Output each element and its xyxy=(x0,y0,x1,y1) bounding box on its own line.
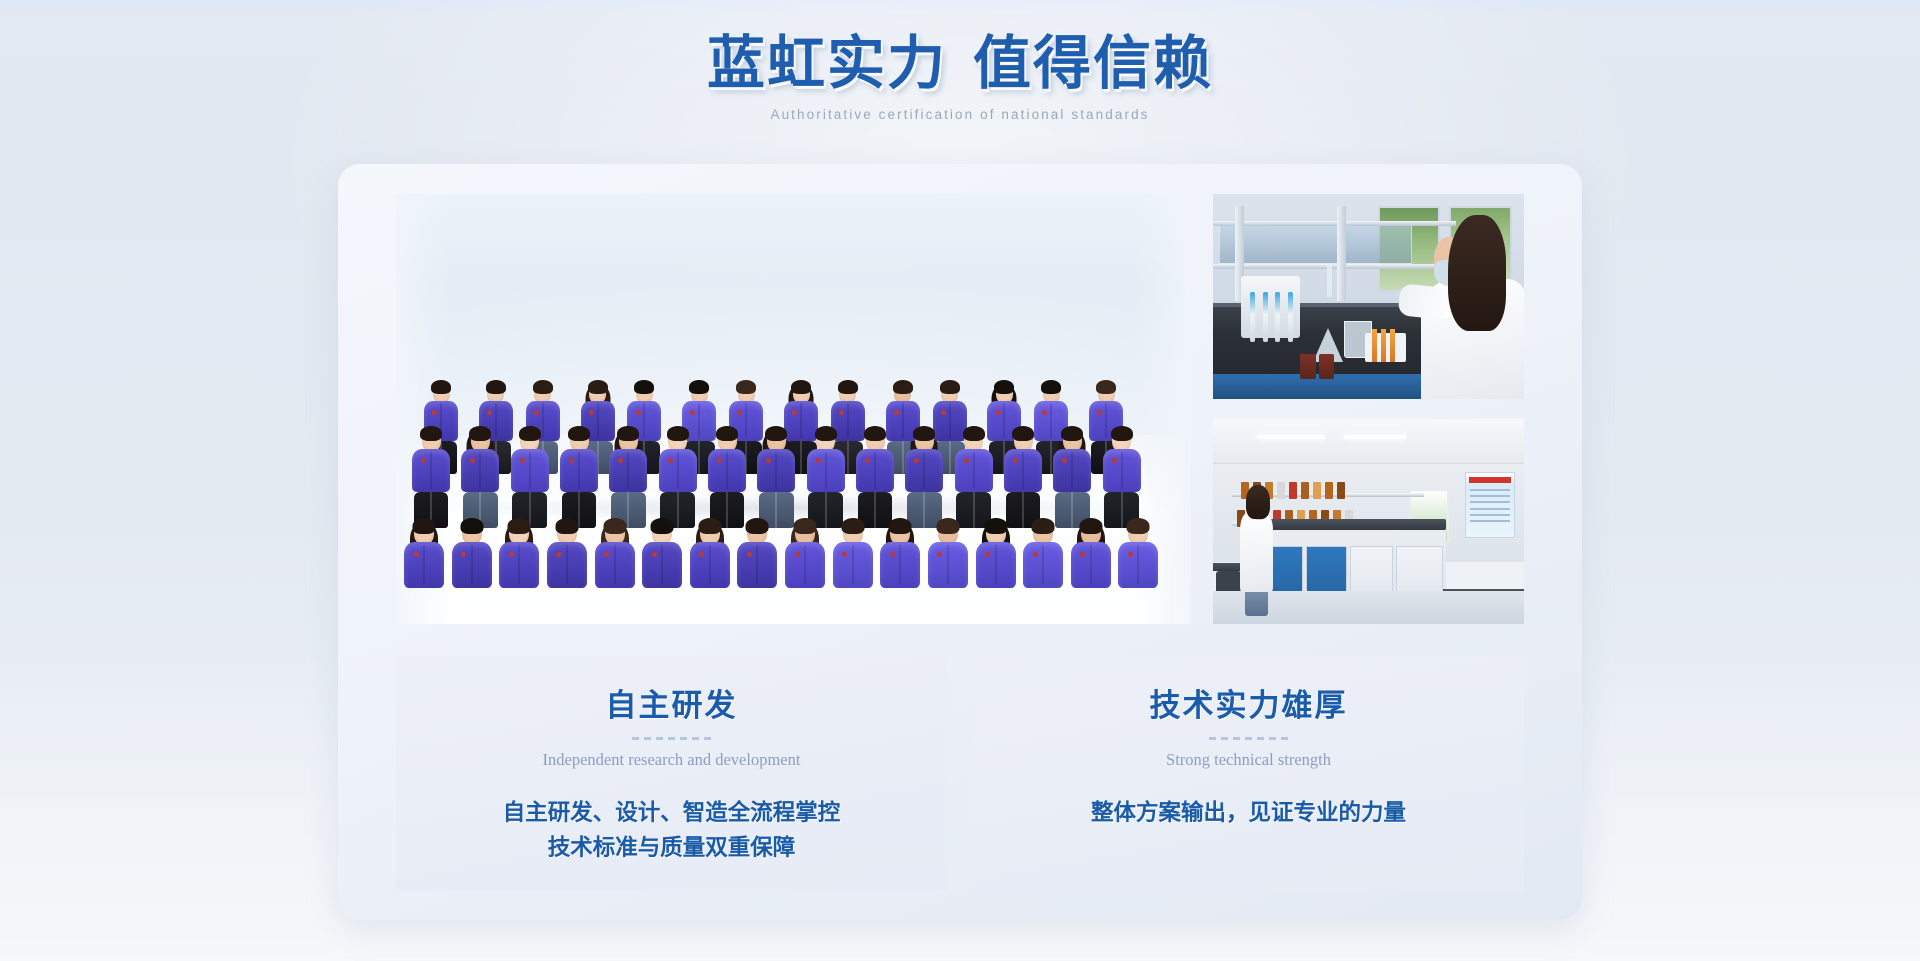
uniform-logo-icon xyxy=(795,552,800,557)
person-hair xyxy=(651,518,674,534)
poster-line-5 xyxy=(1470,514,1510,516)
person-uniform xyxy=(1053,449,1091,492)
card-english-subtitle: Strong technical strength xyxy=(991,750,1506,770)
uniform-logo-icon xyxy=(747,552,752,557)
person-uniform xyxy=(976,542,1016,588)
technician-hair xyxy=(1246,485,1270,519)
uniform-logo-icon xyxy=(839,410,844,415)
reagent-bottle-icon xyxy=(1325,482,1333,499)
person-uniform xyxy=(595,542,635,588)
uniform-logo-icon xyxy=(1097,410,1102,415)
person-figure xyxy=(833,520,873,588)
lab-bench-scene xyxy=(1213,194,1524,399)
lab-photo-bottom xyxy=(1213,419,1524,624)
person-uniform xyxy=(642,542,682,588)
person-hair xyxy=(1061,426,1083,441)
page-subtitle: Authoritative certification of national … xyxy=(0,107,1920,122)
poster-line-1 xyxy=(1470,489,1510,491)
person-uniform xyxy=(955,449,993,492)
person-hair xyxy=(1041,380,1061,394)
reagent-bottle-icon-1 xyxy=(1300,354,1316,379)
person-hair xyxy=(1012,426,1034,441)
uniform-logo-icon xyxy=(1033,552,1038,557)
person-hair xyxy=(1079,518,1102,534)
card-body-line-1: 整体方案输出，见证专业的力量 xyxy=(991,796,1506,831)
pipette-icon-3 xyxy=(1275,292,1280,341)
reagent-bottle-icon xyxy=(1337,482,1345,499)
uniform-logo-icon xyxy=(816,458,821,463)
person-figure xyxy=(690,520,730,588)
person-hair xyxy=(736,380,756,394)
uniform-logo-icon xyxy=(636,410,641,415)
person-hair xyxy=(913,426,935,441)
person-uniform xyxy=(833,542,873,588)
uniform-logo-icon xyxy=(964,458,969,463)
person-hair xyxy=(413,518,436,534)
uniform-logo-icon xyxy=(520,458,525,463)
person-hair xyxy=(893,380,913,394)
card-title: 自主研发 xyxy=(414,680,929,725)
island-bench-top xyxy=(1253,519,1446,529)
divider-dot xyxy=(1257,737,1264,740)
person-figure xyxy=(609,428,647,528)
person-figure xyxy=(595,520,635,588)
person-hair xyxy=(994,380,1014,394)
person-hair xyxy=(667,426,689,441)
person-hair xyxy=(568,426,590,441)
person-hair xyxy=(460,518,483,534)
person-figure xyxy=(499,520,539,588)
person-figure xyxy=(452,520,492,588)
person-hair xyxy=(555,518,578,534)
poster-line-6 xyxy=(1470,520,1510,522)
person-hair xyxy=(420,426,442,441)
person-uniform xyxy=(511,449,549,492)
lab-technician xyxy=(1393,215,1524,400)
uniform-logo-icon xyxy=(690,410,695,415)
person-hair xyxy=(588,380,608,394)
person-hair xyxy=(603,518,626,534)
safety-poster xyxy=(1465,472,1515,538)
person-figure xyxy=(461,428,499,528)
person-uniform xyxy=(856,449,894,492)
divider-dot xyxy=(656,737,663,740)
person-figure xyxy=(928,520,968,588)
uniform-logo-icon xyxy=(914,458,919,463)
person-hair xyxy=(469,426,491,441)
person-figure xyxy=(1053,428,1091,528)
uniform-logo-icon xyxy=(937,552,942,557)
uniform-logo-icon xyxy=(699,552,704,557)
person-uniform xyxy=(1103,449,1141,492)
person-hair xyxy=(1032,518,1055,534)
uniform-logo-icon xyxy=(487,410,492,415)
person-figure xyxy=(1071,520,1111,588)
lab-room-technician xyxy=(1235,485,1279,616)
uniform-logo-icon xyxy=(1062,458,1067,463)
group-photo xyxy=(396,194,1191,624)
person-figure xyxy=(976,520,1016,588)
person-hair xyxy=(698,518,721,534)
person-figure xyxy=(737,520,777,588)
pipette-icon-1 xyxy=(1250,292,1255,341)
uniform-logo-icon xyxy=(1112,458,1117,463)
person-hair xyxy=(841,518,864,534)
content-panel: 自主研发 Independent research and developmen… xyxy=(338,164,1582,920)
person-hair xyxy=(1096,380,1116,394)
divider-dot xyxy=(1233,737,1240,740)
divider-dot xyxy=(692,737,699,740)
uniform-logo-icon xyxy=(421,458,426,463)
ceiling-light-icon-1 xyxy=(1257,435,1325,439)
person-hair xyxy=(889,518,912,534)
uniform-logo-icon xyxy=(792,410,797,415)
poster-title-bar xyxy=(1469,477,1511,483)
person-hair xyxy=(794,518,817,534)
uniform-logo-icon xyxy=(985,552,990,557)
person-figure xyxy=(905,428,943,528)
person-uniform xyxy=(784,401,818,441)
card-body-line-2: 技术标准与质量双重保障 xyxy=(414,831,929,866)
person-uniform xyxy=(1118,542,1158,588)
person-hair xyxy=(533,380,553,394)
uniform-logo-icon xyxy=(652,552,657,557)
person-figure xyxy=(1118,520,1158,588)
uniform-logo-icon xyxy=(996,410,1001,415)
reagent-bottle-icon-2 xyxy=(1319,354,1335,379)
person-uniform xyxy=(659,449,697,492)
person-figure xyxy=(642,520,682,588)
poster-line-3 xyxy=(1470,501,1510,503)
person-figure xyxy=(1023,520,1063,588)
page-title-left: 蓝虹实力 xyxy=(707,31,947,96)
pipette-icon-2 xyxy=(1263,292,1268,341)
feature-cards: 自主研发 Independent research and developmen… xyxy=(396,656,1524,891)
pipette-icon-4 xyxy=(1288,292,1293,341)
person-hair xyxy=(940,380,960,394)
reagent-bottle-icon xyxy=(1289,482,1297,499)
uniform-logo-icon xyxy=(717,458,722,463)
uniform-logo-icon xyxy=(1128,552,1133,557)
lab-room-scene xyxy=(1213,419,1524,624)
divider-dot xyxy=(1281,737,1288,740)
person-hair xyxy=(689,380,709,394)
uniform-logo-icon xyxy=(1042,410,1047,415)
person-hair xyxy=(815,426,837,441)
divider-dot xyxy=(668,737,675,740)
uniform-logo-icon xyxy=(604,552,609,557)
person-hair xyxy=(431,380,451,394)
lab-post-mid xyxy=(1337,206,1346,300)
person-hair xyxy=(716,426,738,441)
poster-line-2 xyxy=(1470,495,1510,497)
person-hair xyxy=(519,426,541,441)
uniform-logo-icon xyxy=(890,552,895,557)
person-uniform xyxy=(785,542,825,588)
uniform-logo-icon xyxy=(1013,458,1018,463)
person-figure xyxy=(547,520,587,588)
card-divider-dots xyxy=(991,737,1506,740)
person-uniform xyxy=(547,542,587,588)
person-uniform xyxy=(1004,449,1042,492)
person-uniform xyxy=(690,542,730,588)
person-hair xyxy=(1111,426,1133,441)
divider-dot xyxy=(632,737,639,740)
divider-dot xyxy=(680,737,687,740)
lab-glass-panel xyxy=(1219,225,1412,264)
person-uniform xyxy=(499,542,539,588)
person-uniform xyxy=(609,449,647,492)
person-figure xyxy=(404,520,444,588)
person-uniform xyxy=(757,449,795,492)
page-title-right: 值得信赖 xyxy=(973,31,1213,96)
person-uniform xyxy=(933,401,967,441)
uniform-logo-icon xyxy=(569,458,574,463)
uniform-logo-icon xyxy=(534,410,539,415)
card-body-line-1: 自主研发、设计、智造全流程掌控 xyxy=(414,796,929,831)
person-hair xyxy=(963,426,985,441)
person-figure xyxy=(880,520,920,588)
reagent-bottle-icon xyxy=(1313,482,1321,499)
lab-hair xyxy=(1448,215,1505,332)
person-uniform xyxy=(404,542,444,588)
person-hair xyxy=(984,518,1007,534)
person-hair xyxy=(617,426,639,441)
uniform-logo-icon xyxy=(865,458,870,463)
person-hair xyxy=(838,380,858,394)
uniform-logo-icon xyxy=(842,552,847,557)
person-hair xyxy=(1127,518,1150,534)
person-uniform xyxy=(461,449,499,492)
person-uniform xyxy=(737,542,777,588)
poster-line-4 xyxy=(1470,508,1510,510)
person-uniform xyxy=(412,449,450,492)
uniform-logo-icon xyxy=(414,552,419,557)
person-hair xyxy=(791,380,811,394)
uniform-logo-icon xyxy=(556,552,561,557)
person-hair xyxy=(864,426,886,441)
feature-card-tech[interactable]: 技术实力雄厚 Strong technical strength 整体方案输出，… xyxy=(973,656,1524,891)
person-uniform xyxy=(880,542,920,588)
uniform-logo-icon xyxy=(509,552,514,557)
person-hair xyxy=(746,518,769,534)
lab-ceiling xyxy=(1213,419,1524,464)
lab-arm xyxy=(1397,283,1455,321)
person-hair xyxy=(486,380,506,394)
divider-dot xyxy=(1245,737,1252,740)
divider-dot xyxy=(1269,737,1276,740)
lab-photo-top xyxy=(1213,194,1524,399)
divider-dot xyxy=(1221,737,1228,740)
uniform-logo-icon xyxy=(432,410,437,415)
person-uniform xyxy=(905,449,943,492)
card-divider-dots xyxy=(414,737,929,740)
vial-icon-1 xyxy=(1372,329,1377,362)
reagent-bottle-icon xyxy=(1301,482,1309,499)
flask-neck-icon xyxy=(1327,264,1332,297)
person-uniform xyxy=(452,542,492,588)
person-hair xyxy=(508,518,531,534)
person-hair xyxy=(765,426,787,441)
uniform-logo-icon xyxy=(941,410,946,415)
media-grid xyxy=(396,194,1524,624)
uniform-logo-icon xyxy=(766,458,771,463)
person-figure xyxy=(757,428,795,528)
person-uniform xyxy=(708,449,746,492)
uniform-logo-icon xyxy=(668,458,673,463)
uniform-logo-icon xyxy=(589,410,594,415)
card-body-text: 整体方案输出，见证专业的力量 xyxy=(991,796,1506,831)
person-hair xyxy=(936,518,959,534)
card-title: 技术实力雄厚 xyxy=(991,680,1506,725)
person-uniform xyxy=(807,449,845,492)
uniform-logo-icon xyxy=(470,458,475,463)
vial-icon-2 xyxy=(1381,329,1386,362)
ceiling-light-icon-2 xyxy=(1344,435,1406,439)
divider-dot xyxy=(704,737,711,740)
technician-coat xyxy=(1240,513,1273,592)
person-uniform xyxy=(1023,542,1063,588)
feature-card-rnd[interactable]: 自主研发 Independent research and developmen… xyxy=(396,656,947,891)
person-uniform xyxy=(1071,542,1111,588)
page-title: 蓝虹实力值得信赖 xyxy=(0,34,1920,95)
uniform-logo-icon xyxy=(894,410,899,415)
person-uniform xyxy=(560,449,598,492)
divider-dot xyxy=(1209,737,1216,740)
uniform-logo-icon xyxy=(1080,552,1085,557)
card-english-subtitle: Independent research and development xyxy=(414,750,929,770)
uniform-logo-icon xyxy=(461,552,466,557)
person-uniform xyxy=(928,542,968,588)
uniform-logo-icon xyxy=(737,410,742,415)
person-hair xyxy=(634,380,654,394)
divider-dot xyxy=(644,737,651,740)
person-figure xyxy=(785,520,825,588)
uniform-logo-icon xyxy=(618,458,623,463)
page-header: 蓝虹实力值得信赖 Authoritative certification of … xyxy=(0,0,1920,122)
card-body-text: 自主研发、设计、智造全流程掌控 技术标准与质量双重保障 xyxy=(414,796,929,866)
